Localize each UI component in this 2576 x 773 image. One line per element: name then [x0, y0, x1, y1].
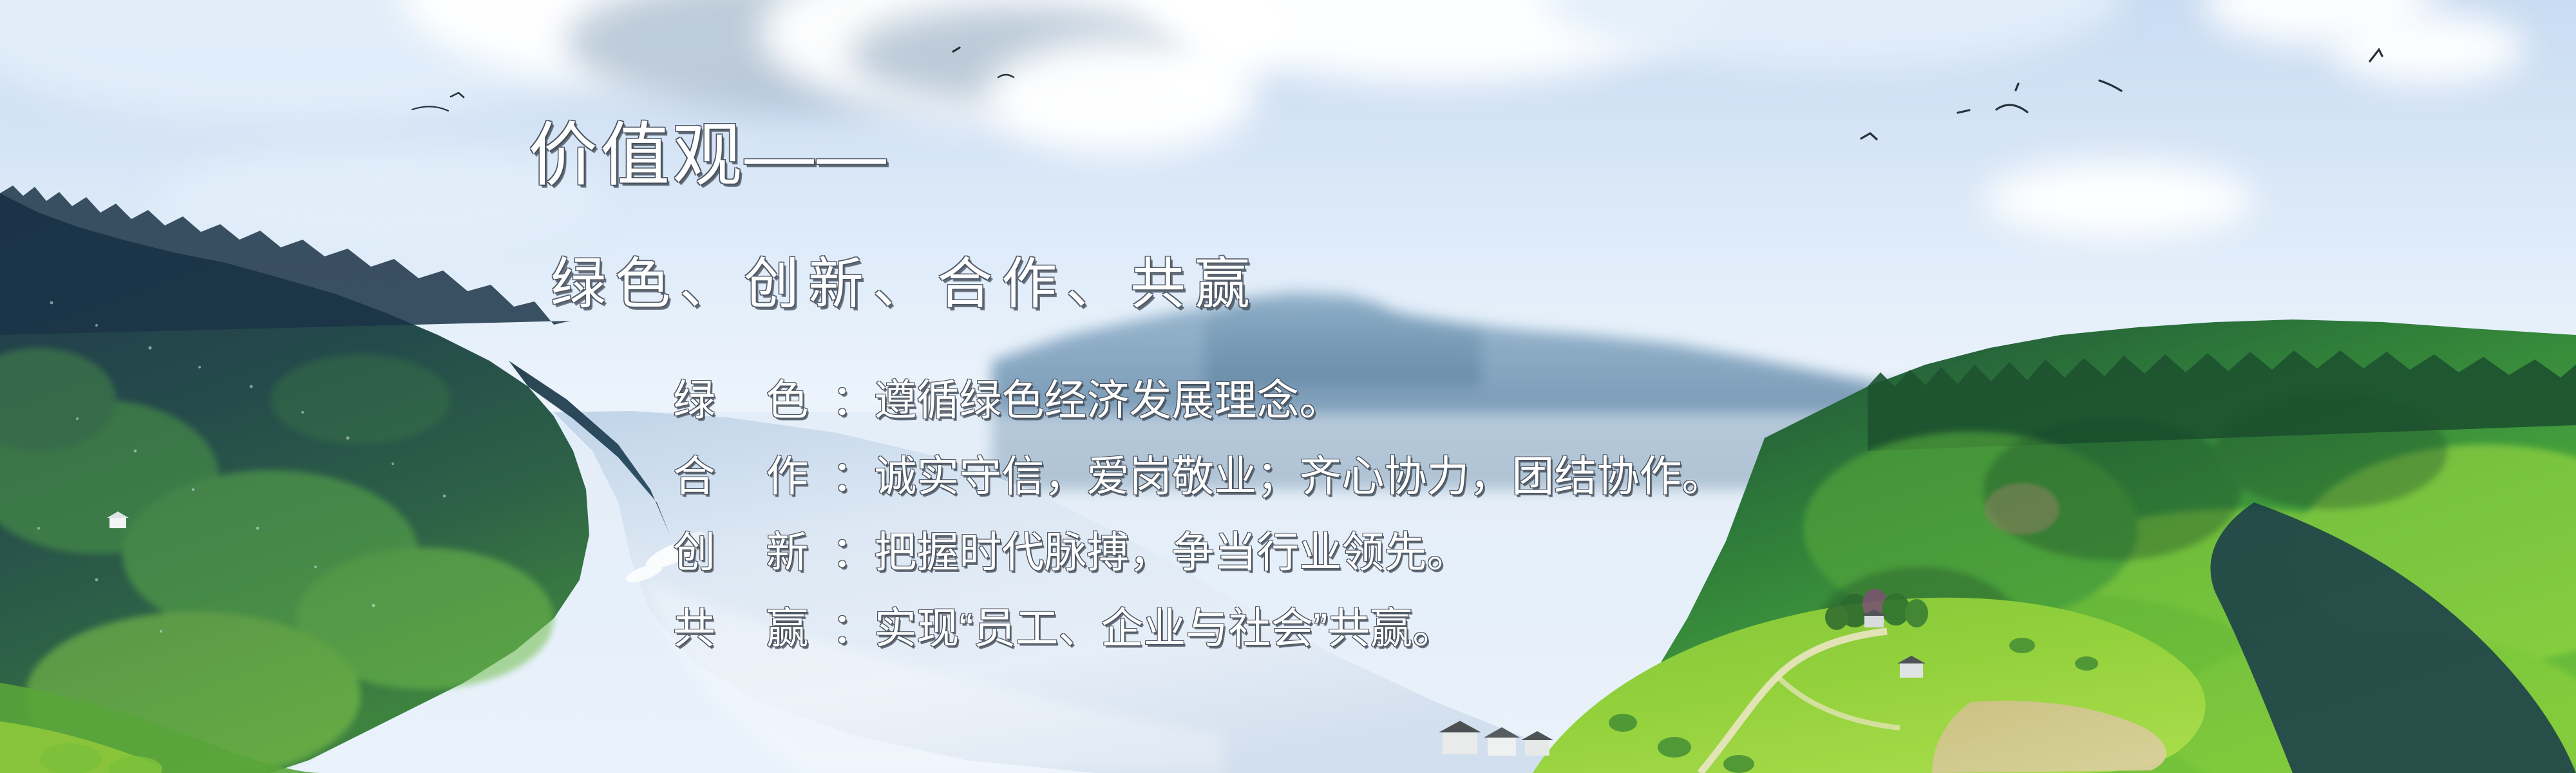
value-text-innovation: 把握时代脉搏，争当行业领先。 [874, 528, 1469, 576]
value-text-cooperation: 诚实守信，爱岗敬业；齐心协力，团结协作。 [874, 452, 1724, 500]
value-text-green: 遵循绿色经济发展理念。 [874, 376, 1341, 424]
page-title: 价值观—— [528, 120, 889, 191]
subtitle: 绿色、创新、合作、共赢 [551, 256, 1259, 313]
value-key-green: 绿 色 [673, 376, 831, 424]
value-line-innovation: 创 新：把握时代脉搏，争当行业领先。 [673, 531, 1724, 569]
value-sep-innovation: ： [831, 528, 874, 576]
value-sep-green: ： [831, 376, 874, 424]
value-sep-cooperation: ： [831, 452, 874, 500]
value-key-winwin: 共 赢 [673, 604, 831, 652]
value-sep-winwin: ： [831, 604, 874, 652]
value-line-green: 绿 色：遵循绿色经济发展理念。 [673, 379, 1724, 417]
value-text-winwin: 实现“员工、企业与社会”共赢。 [874, 604, 1455, 652]
value-key-innovation: 创 新 [673, 528, 831, 576]
text-layer: 价值观—— 绿色、创新、合作、共赢 绿 色：遵循绿色经济发展理念。 合 作：诚实… [0, 0, 2576, 773]
value-line-winwin: 共 赢：实现“员工、企业与社会”共赢。 [673, 607, 1724, 645]
slide-canvas: 价值观—— 绿色、创新、合作、共赢 绿 色：遵循绿色经济发展理念。 合 作：诚实… [0, 0, 2576, 773]
value-list: 绿 色：遵循绿色经济发展理念。 合 作：诚实守信，爱岗敬业；齐心协力，团结协作。… [673, 379, 1724, 645]
value-line-cooperation: 合 作：诚实守信，爱岗敬业；齐心协力，团结协作。 [673, 455, 1724, 493]
value-key-cooperation: 合 作 [673, 452, 831, 500]
